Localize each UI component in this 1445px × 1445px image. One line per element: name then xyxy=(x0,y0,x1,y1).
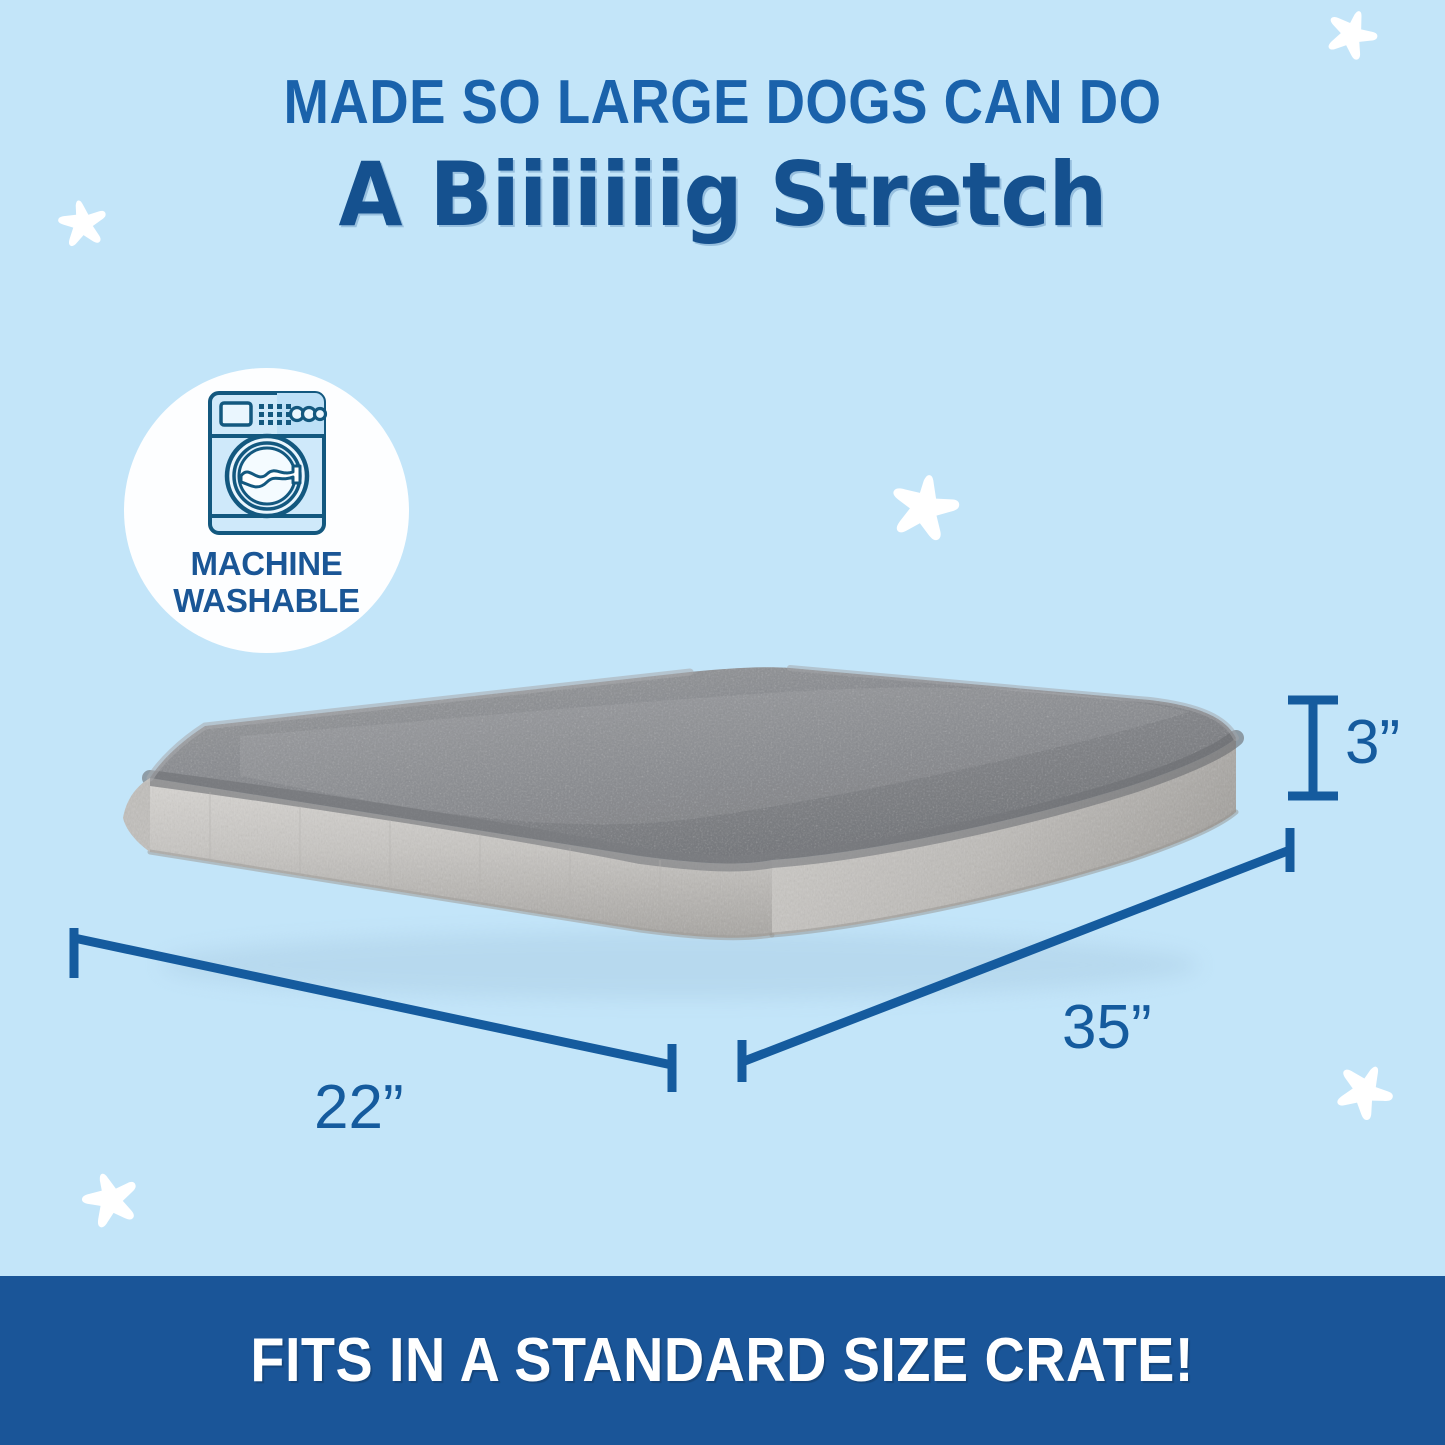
length-dimension-line xyxy=(742,828,1290,1082)
banner-text: FITS IN A STANDARD SIZE CRATE! xyxy=(251,1325,1194,1396)
height-dimension-line xyxy=(1288,700,1338,796)
length-dimension-label: 35” xyxy=(1062,992,1152,1063)
width-dimension-label: 22” xyxy=(314,1072,404,1143)
dimension-annotations: 3” 35” 22” xyxy=(0,0,1445,1445)
product-infographic: MADE SO LARGE DOGS CAN DO A Biiiiiiig St… xyxy=(0,0,1445,1445)
bottom-banner: FITS IN A STANDARD SIZE CRATE! xyxy=(0,1276,1445,1445)
height-dimension-label: 3” xyxy=(1345,707,1400,778)
width-dimension-line xyxy=(74,928,672,1092)
